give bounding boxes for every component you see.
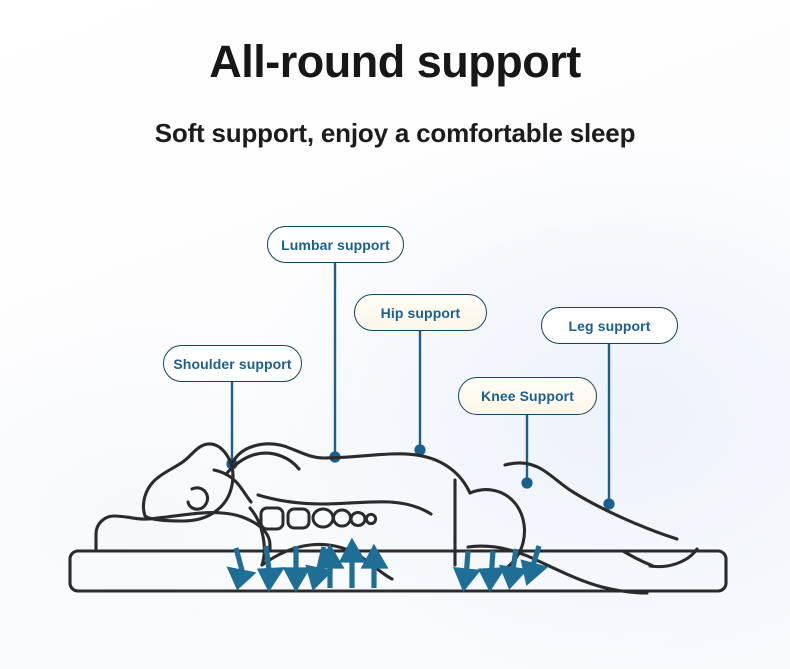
callout-lumbar-support-label: Lumbar support xyxy=(281,237,390,253)
shoulder-arm-top xyxy=(227,453,299,473)
callout-shoulder-support-label: Shoulder support xyxy=(173,356,291,372)
arm-lower-line xyxy=(258,495,431,514)
leg-top-profile xyxy=(505,463,677,539)
spine-segment-2 xyxy=(288,509,309,528)
callout-leg-support-label: Leg support xyxy=(569,318,651,334)
illustration-canvas: All-round support Soft support, enjoy a … xyxy=(0,0,790,669)
connector-dot-lumbar xyxy=(329,451,340,462)
page-title: All-round support xyxy=(0,38,790,85)
mattress-outline xyxy=(70,551,726,591)
callout-shoulder-support[interactable]: Shoulder support xyxy=(163,345,302,382)
hip-outline xyxy=(470,490,525,574)
pillow-outline xyxy=(96,513,270,551)
callout-lumbar-support[interactable]: Lumbar support xyxy=(267,226,404,263)
leg-underside xyxy=(468,546,647,593)
spine-segment-4 xyxy=(334,510,351,526)
spine-segment-5 xyxy=(351,513,365,526)
torso-underside xyxy=(250,508,264,565)
connector-dot-knee xyxy=(521,477,532,488)
pressure-arrows-legs xyxy=(457,546,543,587)
head-outline xyxy=(143,444,233,521)
neck-line xyxy=(214,470,251,502)
connector-dot-leg xyxy=(603,498,614,509)
connector-dot-shoulder xyxy=(226,458,237,469)
spine-segment-6 xyxy=(366,514,375,523)
spine-segments xyxy=(261,508,376,529)
pressure-arrows-torso xyxy=(231,546,328,587)
callout-hip-support[interactable]: Hip support xyxy=(354,294,487,331)
spine-segment-3 xyxy=(313,509,333,527)
ear-detail xyxy=(188,488,208,509)
callout-hip-support-label: Hip support xyxy=(381,305,461,321)
waist-underside xyxy=(262,544,392,579)
arrow-group xyxy=(231,543,543,588)
body-top-profile xyxy=(232,444,470,493)
connector-dot-hip xyxy=(414,444,425,455)
callout-knee-support[interactable]: Knee Support xyxy=(458,377,597,415)
ankle-line xyxy=(623,551,653,566)
support-arrows-lumbar xyxy=(321,543,384,588)
foot-outline xyxy=(650,549,697,567)
callout-leg-support[interactable]: Leg support xyxy=(541,307,678,344)
callout-knee-support-label: Knee Support xyxy=(481,388,574,404)
spine-segment-1 xyxy=(261,508,283,529)
page-subtitle: Soft support, enjoy a comfortable sleep xyxy=(0,118,790,149)
